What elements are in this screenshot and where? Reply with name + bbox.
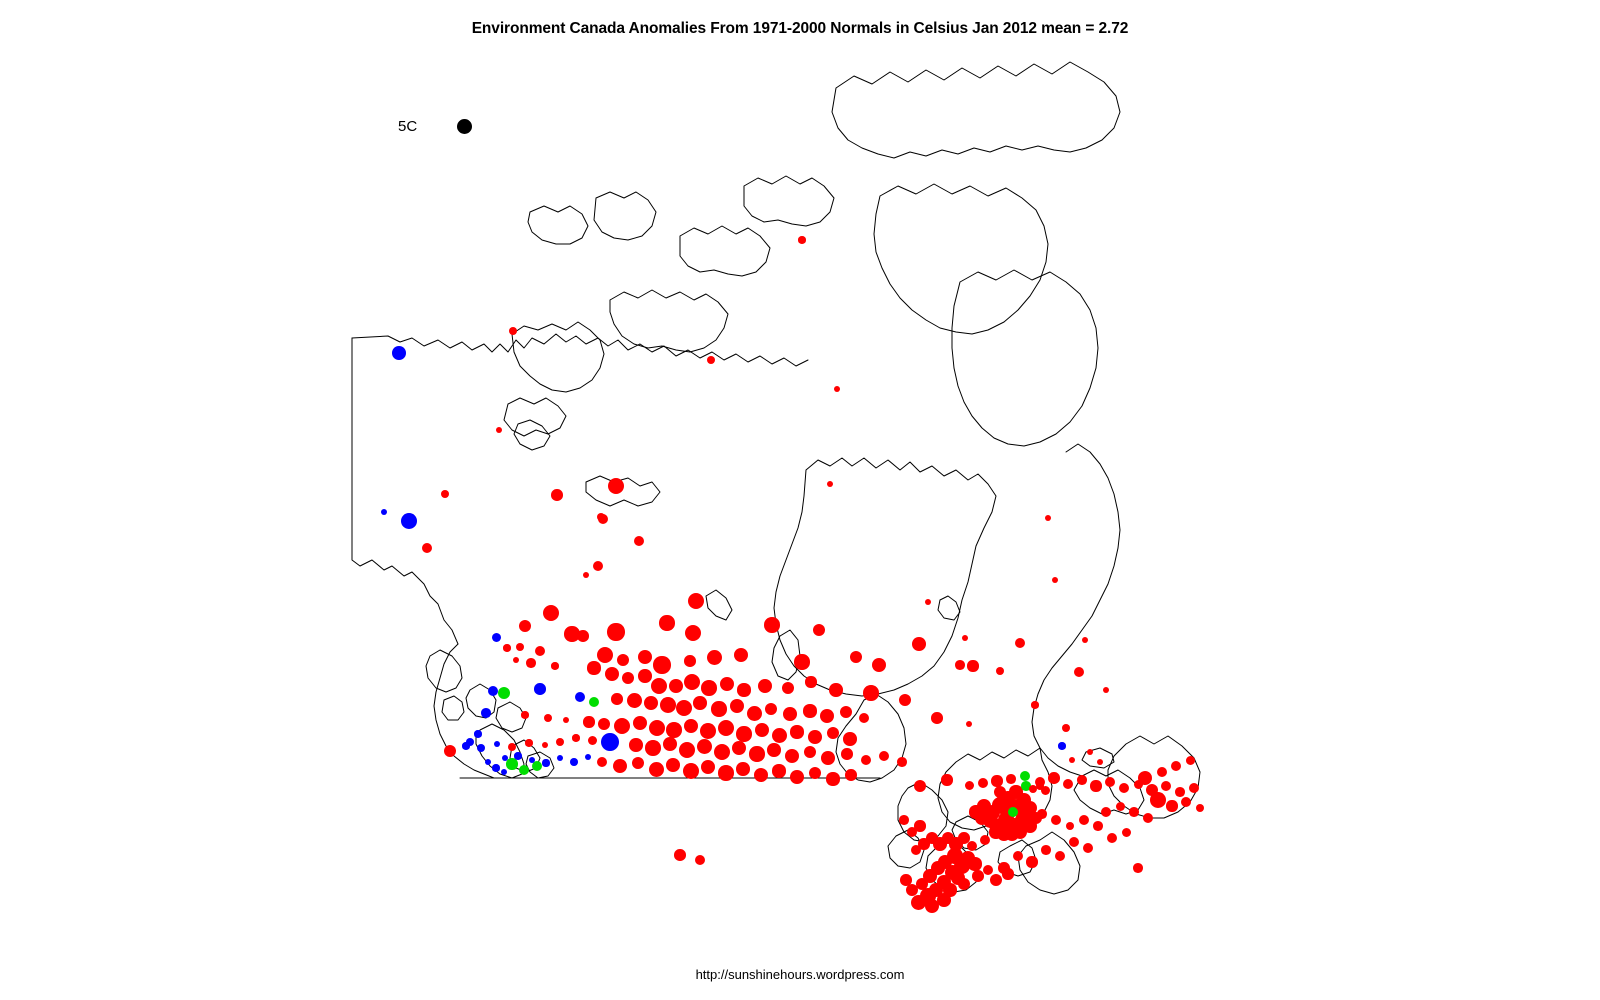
anomaly-dot <box>1017 793 1031 807</box>
anomaly-dot <box>381 509 388 516</box>
anomaly-dot <box>597 647 613 663</box>
canada-anomaly-map <box>0 0 1600 1000</box>
anomaly-dot <box>772 764 785 777</box>
anomaly-dot <box>659 615 674 630</box>
anomaly-dot <box>598 718 611 731</box>
anomaly-dot <box>684 719 698 733</box>
anomaly-dot <box>1058 742 1065 749</box>
anomaly-dot <box>535 646 546 657</box>
anomaly-dot <box>1052 577 1058 583</box>
anomaly-dot <box>563 717 570 724</box>
anomaly-dot <box>1196 804 1204 812</box>
anomaly-dot <box>649 762 664 777</box>
anomaly-dot <box>863 685 879 701</box>
anomaly-dot <box>714 744 730 760</box>
anomaly-dot <box>492 633 501 642</box>
anomaly-dot <box>845 769 857 781</box>
anomaly-dot <box>899 815 908 824</box>
anomaly-dot <box>488 686 499 697</box>
anomaly-dot <box>840 706 852 718</box>
anomaly-dot <box>1051 815 1061 825</box>
anomaly-dot <box>666 758 680 772</box>
anomaly-dot <box>897 757 906 766</box>
anomaly-dot <box>1161 781 1171 791</box>
anomaly-dot <box>955 660 964 669</box>
anomaly-dot <box>679 742 696 759</box>
anomaly-dot <box>809 767 821 779</box>
anomaly-dot <box>693 696 706 709</box>
anomaly-dot <box>634 536 645 547</box>
anomaly-dot <box>633 716 648 731</box>
anomaly-dot <box>734 648 748 662</box>
anomaly-dot <box>711 701 726 716</box>
anomaly-dot <box>1175 787 1184 796</box>
anomaly-dot <box>466 738 474 746</box>
anomaly-dot <box>653 656 670 673</box>
anomaly-dot <box>1087 749 1093 755</box>
anomaly-dot <box>1090 780 1101 791</box>
anomaly-dot <box>767 743 780 756</box>
anomaly-dot <box>1030 812 1043 825</box>
anomaly-dot <box>1189 783 1200 794</box>
anomaly-dot <box>514 752 521 759</box>
anomaly-dot <box>551 662 558 669</box>
anomaly-dot <box>732 741 746 755</box>
anomaly-dot <box>542 759 549 766</box>
anomaly-dot <box>861 755 872 766</box>
anomaly-dot <box>666 722 682 738</box>
anomaly-dot <box>958 878 970 890</box>
anomaly-dot <box>764 617 780 633</box>
anomaly-dot <box>611 693 623 705</box>
anomaly-dot <box>622 672 634 684</box>
anomaly-dot <box>872 658 886 672</box>
anomaly-dot <box>613 759 627 773</box>
anomaly-dot <box>1074 667 1084 677</box>
anomaly-dot <box>785 749 799 763</box>
anomaly-dot <box>772 728 787 743</box>
anomaly-dot <box>1119 783 1130 794</box>
anomaly-dot <box>1079 815 1089 825</box>
anomaly-dot <box>1105 777 1115 787</box>
anomaly-dot <box>688 593 704 609</box>
anomaly-dot <box>1069 757 1076 764</box>
anomaly-dot <box>605 667 619 681</box>
anomaly-dot <box>685 625 702 642</box>
anomaly-dot <box>601 733 619 751</box>
anomaly-dot <box>519 620 532 633</box>
anomaly-dot <box>707 650 722 665</box>
anomaly-dot <box>965 781 974 790</box>
anomaly-dot <box>879 751 889 761</box>
anomaly-dot <box>805 676 816 687</box>
anomaly-dot <box>1116 802 1125 811</box>
anomaly-dot <box>827 727 839 739</box>
anomaly-dot <box>632 757 645 770</box>
anomaly-dot <box>697 739 712 754</box>
anomaly-dot <box>765 703 778 716</box>
anomaly-dot <box>525 739 532 746</box>
anomaly-dot <box>583 572 589 578</box>
anomaly-dot <box>798 236 805 243</box>
anomaly-dot <box>544 714 552 722</box>
anomaly-dot <box>1045 515 1051 521</box>
anomaly-dot <box>660 697 676 713</box>
anomaly-dot <box>803 704 816 717</box>
anomaly-dot <box>820 709 834 723</box>
anomaly-dot <box>663 737 677 751</box>
anomaly-dot <box>978 778 988 788</box>
anomaly-dot <box>526 658 535 667</box>
anomaly-dot <box>1157 767 1167 777</box>
anomaly-dot <box>1069 837 1079 847</box>
anomaly-dot <box>968 857 981 870</box>
anomaly-dot <box>676 700 692 716</box>
anomaly-dot <box>813 624 825 636</box>
anomaly-dot <box>1013 851 1023 861</box>
anomaly-dot <box>644 696 658 710</box>
anomaly-dot <box>508 743 516 751</box>
anomaly-dot <box>474 730 481 737</box>
anomaly-dot <box>498 687 510 699</box>
anomaly-dot <box>941 774 952 785</box>
anomaly-dot <box>422 543 432 553</box>
anomaly-dot <box>925 599 931 605</box>
anomaly-dot <box>1143 813 1153 823</box>
anomaly-dot <box>962 635 968 641</box>
anomaly-dot <box>589 697 599 707</box>
anomaly-dot <box>1150 792 1166 808</box>
anomaly-dot <box>1093 821 1102 830</box>
anomaly-dot <box>509 327 517 335</box>
anomaly-dot <box>834 386 840 392</box>
anomaly-dot <box>1083 843 1094 854</box>
anomaly-dot <box>829 683 842 696</box>
anomaly-dot <box>684 655 696 667</box>
anomaly-dot <box>967 660 978 671</box>
anomaly-dot <box>441 490 449 498</box>
anomaly-dot <box>496 427 502 433</box>
anomaly-dot <box>980 835 990 845</box>
anomaly-dot <box>638 650 653 665</box>
anomaly-dot <box>827 481 834 488</box>
anomaly-dot <box>736 762 749 775</box>
anomaly-dot <box>969 805 982 818</box>
anomaly-dot <box>501 769 507 775</box>
anomaly-dot <box>843 732 856 745</box>
anomaly-dot <box>1041 786 1050 795</box>
anomaly-dot <box>1002 868 1013 879</box>
anomaly-dot <box>575 692 585 702</box>
anomaly-dot <box>707 356 715 364</box>
anomaly-dot <box>617 654 630 667</box>
anomaly-dot <box>1103 687 1109 693</box>
anomaly-dot <box>1107 833 1117 843</box>
anomaly-dot <box>996 667 1004 675</box>
anomaly-dot <box>808 730 822 744</box>
anomaly-dot-layer <box>0 0 1600 1000</box>
anomaly-dot <box>1122 828 1131 837</box>
anomaly-dot <box>943 883 956 896</box>
anomaly-dot <box>593 561 603 571</box>
anomaly-dot <box>1026 856 1037 867</box>
anomaly-dot <box>572 734 579 741</box>
anomaly-dot <box>967 841 978 852</box>
anomaly-dot <box>914 780 926 792</box>
anomaly-dot <box>392 346 406 360</box>
anomaly-dot <box>1133 863 1142 872</box>
anomaly-dot <box>669 679 683 693</box>
anomaly-dot <box>720 677 734 691</box>
anomaly-dot <box>989 825 1002 838</box>
anomaly-dot <box>513 657 520 664</box>
anomaly-dot <box>1166 800 1177 811</box>
anomaly-dot <box>519 765 529 775</box>
anomaly-dot <box>718 720 734 736</box>
anomaly-dot <box>790 725 803 738</box>
anomaly-dot <box>1041 845 1050 854</box>
anomaly-dot <box>608 478 625 495</box>
anomaly-dot <box>1015 638 1025 648</box>
anomaly-dot <box>804 746 817 759</box>
anomaly-dot <box>481 708 490 717</box>
anomaly-dot <box>570 758 578 766</box>
anomaly-dot <box>506 758 517 769</box>
anomaly-dot <box>782 682 794 694</box>
anomaly-dot <box>911 845 921 855</box>
anomaly-dot <box>585 754 591 760</box>
anomaly-dot <box>444 745 456 757</box>
anomaly-dot <box>783 707 797 721</box>
anomaly-dot <box>1097 759 1104 766</box>
anomaly-dot <box>736 726 751 741</box>
anomaly-dot <box>1181 797 1191 807</box>
anomaly-dot <box>1008 807 1018 817</box>
anomaly-dot <box>1062 724 1070 732</box>
anomaly-dot <box>821 751 835 765</box>
anomaly-dot <box>701 760 716 775</box>
anomaly-dot <box>841 748 853 760</box>
anomaly-dot <box>629 738 642 751</box>
anomaly-dot <box>1082 637 1088 643</box>
anomaly-dot <box>683 763 699 779</box>
anomaly-dot <box>1020 771 1030 781</box>
anomaly-dot <box>983 865 994 876</box>
anomaly-dot <box>543 605 560 622</box>
anomaly-dot <box>556 738 564 746</box>
anomaly-dot <box>754 768 768 782</box>
anomaly-dot <box>991 775 1002 786</box>
anomaly-dot <box>492 764 499 771</box>
anomaly-dot <box>1048 772 1060 784</box>
anomaly-dot <box>758 679 773 694</box>
anomaly-dot <box>674 849 686 861</box>
anomaly-dot <box>1171 761 1181 771</box>
anomaly-dot <box>1077 775 1086 784</box>
anomaly-dot <box>597 757 607 767</box>
anomaly-dot <box>503 644 510 651</box>
anomaly-dot <box>931 712 943 724</box>
anomaly-dot <box>645 740 661 756</box>
anomaly-dot <box>794 654 809 669</box>
anomaly-dot <box>577 630 589 642</box>
anomaly-dot <box>651 678 667 694</box>
anomaly-dot <box>588 736 597 745</box>
anomaly-dot <box>912 637 926 651</box>
anomaly-dot <box>401 513 417 529</box>
anomaly-dot <box>607 623 624 640</box>
anomaly-dot <box>907 827 917 837</box>
anomaly-dot <box>1055 851 1065 861</box>
anomaly-dot <box>701 680 717 696</box>
anomaly-dot <box>911 895 926 910</box>
anomaly-dot <box>1129 807 1138 816</box>
anomaly-dot <box>477 744 485 752</box>
anomaly-dot <box>747 706 762 721</box>
anomaly-dot <box>695 855 705 865</box>
anomaly-dot <box>755 723 769 737</box>
source-url: http://sunshinehours.wordpress.com <box>0 967 1600 982</box>
anomaly-dot <box>583 716 594 727</box>
anomaly-dot <box>1006 774 1015 783</box>
anomaly-dot <box>1066 822 1074 830</box>
anomaly-dot <box>899 694 912 707</box>
anomaly-dot <box>1013 825 1027 839</box>
anomaly-dot <box>557 755 564 762</box>
anomaly-dot <box>700 723 716 739</box>
anomaly-dot <box>1031 701 1038 708</box>
anomaly-dot <box>850 651 862 663</box>
anomaly-dot <box>900 874 912 886</box>
anomaly-dot <box>534 683 546 695</box>
anomaly-dot <box>790 770 804 784</box>
anomaly-dot <box>614 718 630 734</box>
anomaly-dot <box>627 693 642 708</box>
anomaly-dot <box>718 765 734 781</box>
anomaly-dot <box>516 643 524 651</box>
anomaly-dot <box>494 741 501 748</box>
anomaly-dot <box>485 759 492 766</box>
anomaly-dot <box>551 489 563 501</box>
anomaly-dot <box>638 669 651 682</box>
anomaly-dot <box>1101 807 1111 817</box>
anomaly-dot <box>1186 756 1195 765</box>
anomaly-dot <box>972 870 984 882</box>
anomaly-dot <box>826 772 839 785</box>
anomaly-dot <box>649 720 666 737</box>
anomaly-dot <box>730 699 744 713</box>
anomaly-dot <box>737 683 750 696</box>
anomaly-dot <box>684 674 701 691</box>
anomaly-dot <box>749 746 764 761</box>
anomaly-dot <box>587 661 600 674</box>
anomaly-dot <box>542 742 549 749</box>
anomaly-dot <box>859 713 870 724</box>
anomaly-dot <box>1063 779 1073 789</box>
anomaly-dot <box>990 874 1002 886</box>
anomaly-dot <box>521 711 528 718</box>
anomaly-dot <box>966 721 973 728</box>
